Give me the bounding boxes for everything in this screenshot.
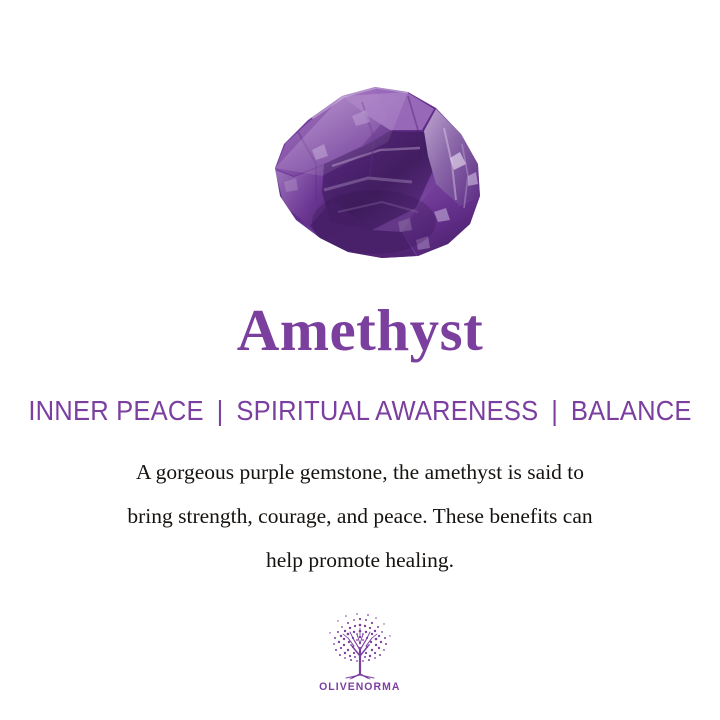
description-line: A gorgeous purple gemstone, the amethyst… <box>50 450 670 494</box>
brand-logo: OLIVENORMA <box>0 612 720 693</box>
keyword-inner-peace: INNER PEACE <box>28 395 203 426</box>
gemstone-illustration <box>212 72 502 272</box>
keyword-line: INNER PEACE | SPIRITUAL AWARENESS | BALA… <box>25 396 695 426</box>
amethyst-info-card: Amethyst INNER PEACE | SPIRITUAL AWARENE… <box>0 0 720 720</box>
page-title: Amethyst <box>0 300 720 362</box>
keyword-separator: | <box>211 395 229 426</box>
keyword-separator: | <box>546 395 564 426</box>
description-line: help promote healing. <box>50 538 670 582</box>
description-text: A gorgeous purple gemstone, the amethyst… <box>50 450 670 582</box>
description-line: bring strength, courage, and peace. Thes… <box>50 494 670 538</box>
gemstone-body <box>212 72 502 272</box>
keyword-balance: BALANCE <box>571 395 692 426</box>
keyword-spiritual-awareness: SPIRITUAL AWARENESS <box>236 395 538 426</box>
tree-of-life-icon <box>324 612 396 680</box>
amethyst-gemstone-image <box>212 72 502 272</box>
tree-roots <box>346 674 374 679</box>
brand-wordmark: OLIVENORMA <box>319 681 400 693</box>
